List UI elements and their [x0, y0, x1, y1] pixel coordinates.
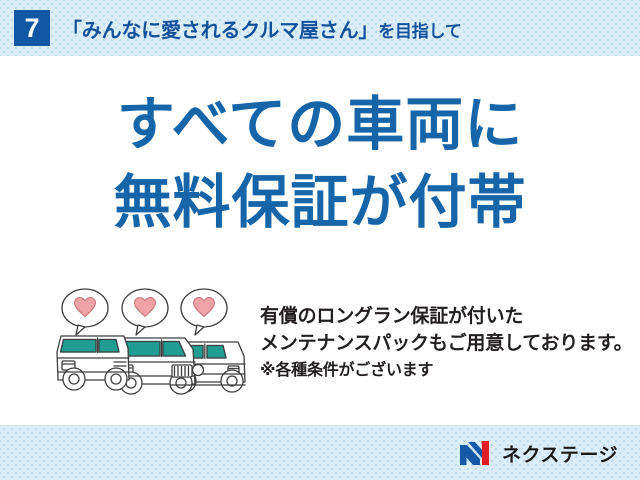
body-copy: 有償のロングラン保証が付いた メンテナンスパックもご用意しております。 ※各種条…	[260, 304, 640, 383]
nexstage-n-logo-icon	[460, 441, 494, 466]
three-cars-illustration	[52, 286, 252, 401]
body-copy-note: ※各種条件がございます	[260, 360, 640, 383]
header-title-tail: を目指して	[378, 22, 462, 41]
header-title-main: 「みんなに愛されるクルマ屋さん」	[62, 20, 378, 42]
headline: すべての車両に 無料保証が付帯	[0, 96, 640, 232]
headline-line-2: 無料保証が付帯	[0, 174, 640, 232]
body-copy-line-1: 有償のロングラン保証が付いた	[260, 304, 640, 331]
header: 7 「みんなに愛されるクルマ屋さん」を目指して	[0, 0, 640, 56]
content-row: 有償のロングラン保証が付いた メンテナンスパックもご用意しております。 ※各種条…	[0, 286, 640, 401]
warranty-promo-banner: 7 「みんなに愛されるクルマ屋さん」を目指して すべての車両に 無料保証が付帯	[0, 0, 640, 480]
body-copy-line-2: メンテナンスパックもご用意しております。	[260, 331, 640, 358]
section-number-badge: 7	[14, 10, 50, 46]
header-title: 「みんなに愛されるクルマ屋さん」を目指して	[62, 14, 462, 43]
headline-line-1: すべての車両に	[0, 96, 640, 154]
brand-logo: ネクステージ	[460, 439, 618, 467]
brand-logo-text: ネクステージ	[502, 440, 618, 467]
